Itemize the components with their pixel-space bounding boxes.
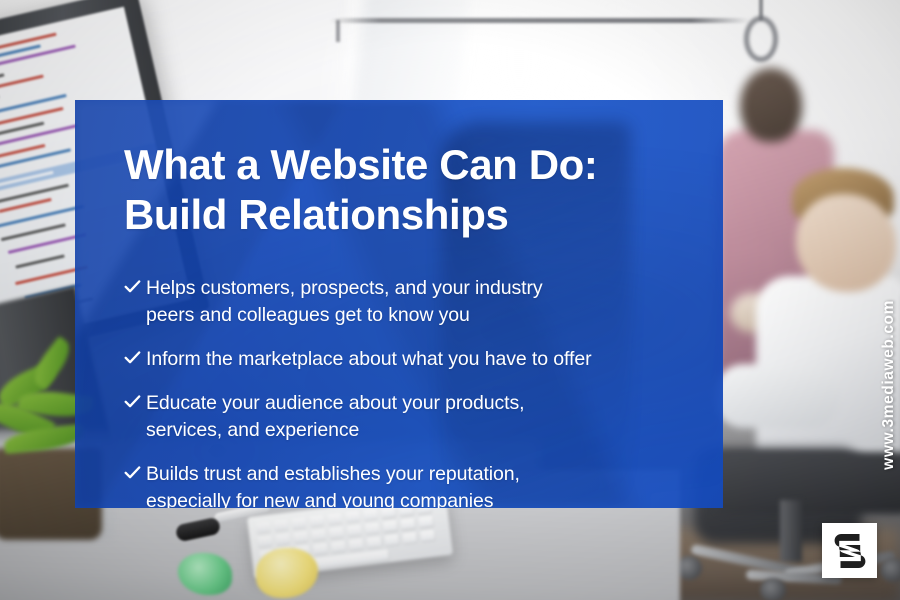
list-item-label: Inform the marketplace about what you ha… [146,346,591,373]
panel-content: What a Website Can Do: Build Relationshi… [75,100,723,508]
seated-person-arm [714,364,840,428]
seated-person [756,168,900,498]
list-item: Builds trust and establishes your reputa… [124,461,675,508]
check-icon [124,393,146,410]
benefit-list: Helps customers, prospects, and your ind… [124,275,675,508]
ceiling-rail [330,18,750,23]
3mediaweb-logo-icon [830,531,870,571]
office-chair-post [780,500,802,562]
seated-person-head [796,194,896,292]
infographic-canvas: What a Website Can Do: Build Relationshi… [0,0,900,600]
list-item-label: Educate your audience about your product… [146,390,524,444]
check-icon [124,464,146,481]
standing-person-head [740,68,802,142]
page-title: What a Website Can Do: Build Relationshi… [124,140,675,239]
pendant-light-icon [744,16,778,62]
site-url-watermark[interactable]: www.3mediaweb.com [880,300,898,470]
blue-content-panel: What a Website Can Do: Build Relationshi… [75,100,723,508]
check-icon [124,349,146,366]
list-item: Inform the marketplace about what you ha… [124,346,675,373]
office-chair-seat [714,452,900,514]
list-item-label: Helps customers, prospects, and your ind… [146,275,543,329]
list-item-label: Builds trust and establishes your reputa… [146,461,520,508]
list-item: Educate your audience about your product… [124,390,675,444]
office-chair-wheel [760,578,786,600]
office-chair-wheel [880,558,900,582]
brand-logo[interactable] [822,523,877,578]
check-icon [124,278,146,295]
ceiling-rail-drop [336,20,340,42]
list-item: Helps customers, prospects, and your ind… [124,275,675,329]
